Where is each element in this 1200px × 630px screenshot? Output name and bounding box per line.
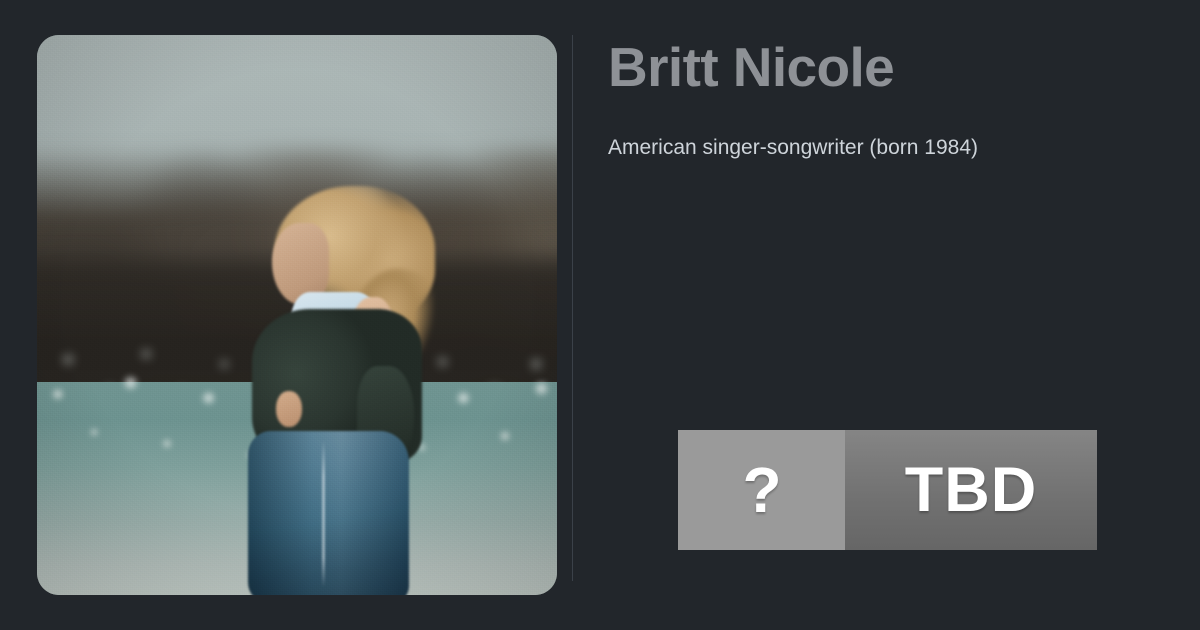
question-mark-icon: ? <box>742 459 780 521</box>
vertical-divider <box>572 35 573 581</box>
person-figure <box>235 186 453 595</box>
status-badge-value: TBD <box>905 459 1037 521</box>
entity-photo <box>37 35 557 595</box>
status-badge-right: TBD <box>845 430 1097 550</box>
preview-card: Britt Nicole American singer-songwriter … <box>0 0 1200 630</box>
hand-shape <box>276 391 302 428</box>
jeans-seam-shape <box>322 440 325 587</box>
jeans-shape <box>248 431 410 595</box>
status-badge[interactable]: ? TBD <box>678 430 1097 550</box>
status-badge-left: ? <box>678 430 845 550</box>
page-title: Britt Nicole <box>608 35 1128 99</box>
entity-description: American singer-songwriter (born 1984) <box>608 132 986 163</box>
entity-info-panel: Britt Nicole American singer-songwriter … <box>608 35 1128 595</box>
photo-canvas <box>37 35 557 595</box>
